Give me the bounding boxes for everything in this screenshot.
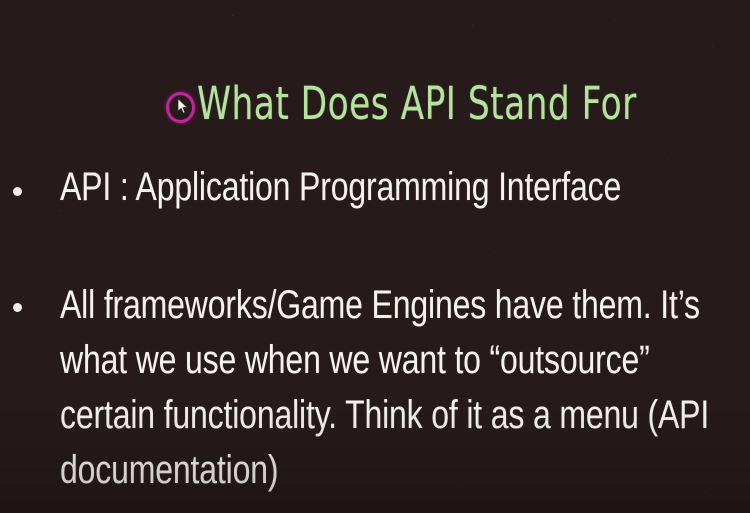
bullet-dot-icon xyxy=(13,303,22,312)
bullet-text: API : Application Programming Interface xyxy=(60,160,750,215)
bullet-text: All frameworks/Game Engines have them. I… xyxy=(60,278,750,498)
mouse-pointer-icon xyxy=(177,98,188,114)
page-title: What Does API Stand For xyxy=(197,74,637,135)
bullet-dot-icon xyxy=(13,187,22,196)
click-highlight-indicator xyxy=(166,92,195,123)
slide-title-row: What Does API Stand For xyxy=(0,74,750,132)
presentation-slide: What Does API Stand For API : Applicatio… xyxy=(0,0,750,513)
